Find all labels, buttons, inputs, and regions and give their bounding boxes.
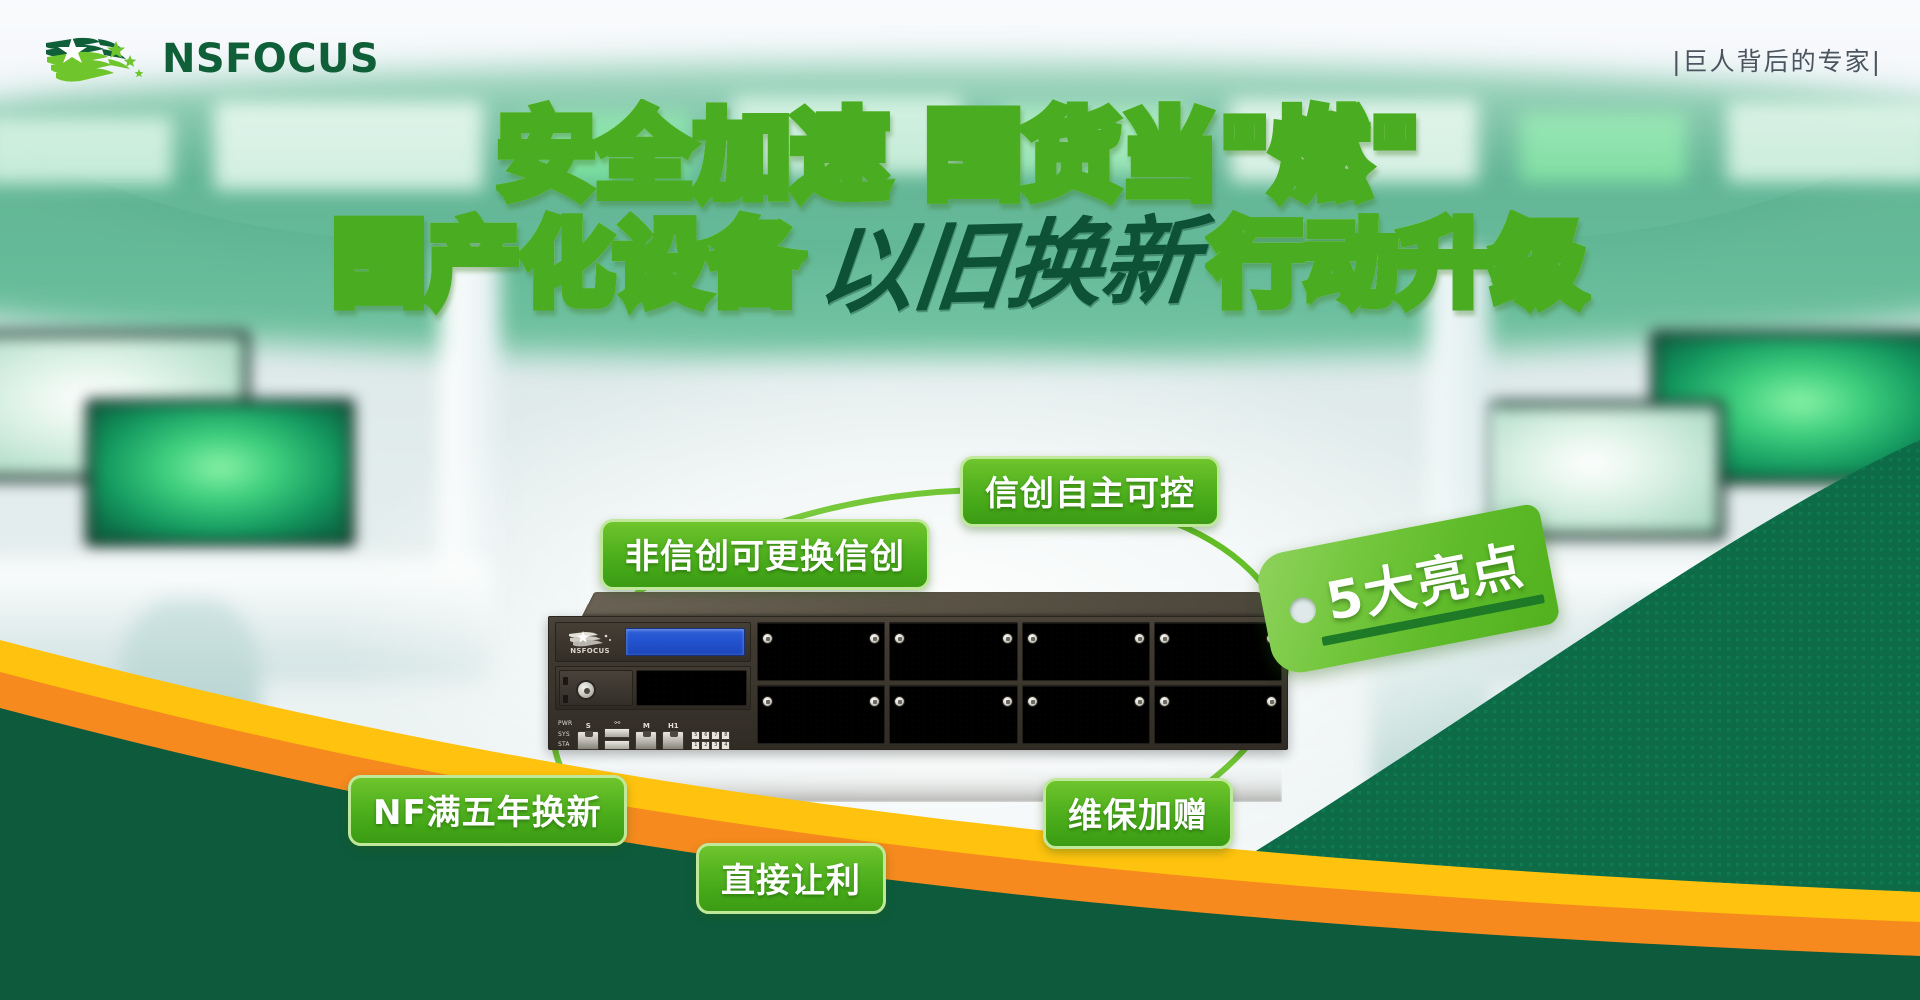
appliance-module-bay-row <box>555 666 751 710</box>
headline-block: 安全加速 国货当"燃" 国产化设备 以旧换新 行动升级 <box>0 108 1920 311</box>
port-mgmt-label: M <box>635 722 657 730</box>
drive-bay[interactable] <box>1022 685 1150 744</box>
appliance-module-latch[interactable] <box>559 670 633 706</box>
drive-bay[interactable] <box>889 685 1017 744</box>
drive-bay[interactable] <box>1154 622 1282 681</box>
badge-nonxc-to-xc[interactable]: 非信创可更换信创 <box>600 519 930 590</box>
promo-banner: NSFOCUS |巨人背后的专家| 安全加速 国货当"燃" 国产化设备 以旧换新… <box>0 0 1920 1000</box>
headline-line-2: 国产化设备 以旧换新 行动升级 <box>0 219 1920 311</box>
appliance-module-vent <box>636 670 747 706</box>
dip-7[interactable]: 7 <box>711 731 720 740</box>
appliance-control-section: NSFOCUS PWR SYS STA <box>549 617 755 749</box>
led-sta: STA <box>558 740 572 750</box>
port-ha-jack[interactable] <box>662 731 684 750</box>
dip-6[interactable]: 6 <box>701 731 710 740</box>
headline-line-1: 安全加速 国货当"燃" <box>0 108 1920 205</box>
port-serial-label: S <box>577 722 599 730</box>
appliance-io-row: PWR SYS STA S ⚯ <box>555 714 751 750</box>
usb-icon: ⚯ <box>604 719 630 727</box>
badge-xinchuang-autonomy[interactable]: 信创自主可控 <box>960 456 1220 527</box>
usb-port-top[interactable] <box>604 728 630 738</box>
port-ha: H1 <box>662 722 684 750</box>
usb-port-stack <box>604 728 630 750</box>
badge-direct-discount[interactable]: 直接让利 <box>696 843 886 914</box>
port-mgmt: M <box>635 722 657 750</box>
dip-1[interactable]: 1 <box>691 741 700 750</box>
dip-8[interactable]: 8 <box>721 731 730 740</box>
port-mgmt-jack[interactable] <box>635 731 657 750</box>
appliance-dip-switches: 5 6 7 8 1 2 3 4 <box>691 731 730 750</box>
port-serial-jack[interactable] <box>577 731 599 750</box>
appliance-front-panel: NSFOCUS PWR SYS STA <box>548 616 1288 750</box>
led-sys: SYS <box>558 730 572 740</box>
drive-bay[interactable] <box>1154 685 1282 744</box>
appliance-brand: NSFOCUS <box>561 630 619 655</box>
brand-tagline: |巨人背后的专家| <box>1672 42 1882 78</box>
appliance-logo-icon <box>567 630 613 647</box>
headline-line-2-suffix: 行动升级 <box>1211 219 1587 311</box>
headline-line-2-brush: 以旧换新 <box>804 215 1210 317</box>
appliance-brand-name: NSFOCUS <box>561 647 619 655</box>
dip-4[interactable]: 4 <box>721 741 730 750</box>
nsfocus-logo: NSFOCUS <box>42 33 379 85</box>
logo-wordmark: NSFOCUS <box>162 36 379 82</box>
port-ha-label: H1 <box>662 722 684 730</box>
appliance-drive-bays <box>755 617 1287 749</box>
led-pwr: PWR <box>558 719 572 729</box>
dip-3[interactable]: 3 <box>711 741 720 750</box>
dip-5[interactable]: 5 <box>691 731 700 740</box>
latch-knob-icon[interactable] <box>576 680 596 700</box>
headline-line-1-text: 安全加速 国货当"燃" <box>498 100 1421 212</box>
drive-bay[interactable] <box>757 622 885 681</box>
usb-port-bottom[interactable] <box>604 740 630 750</box>
drive-bay[interactable] <box>757 685 885 744</box>
badge-maintenance-bonus[interactable]: 维保加赠 <box>1043 778 1233 849</box>
headline-line-2-prefix: 国产化设备 <box>333 219 803 311</box>
port-serial: S <box>577 722 599 750</box>
appliance-top-panel <box>582 592 1274 616</box>
nsfocus-appliance: NSFOCUS PWR SYS STA <box>548 580 1288 802</box>
badge-nf-five-year-renewal[interactable]: NF满五年换新 <box>348 775 627 846</box>
drive-bay[interactable] <box>1022 622 1150 681</box>
nsfocus-flag-star-logo-icon <box>42 33 148 85</box>
appliance-status-leds: PWR SYS STA <box>558 719 572 750</box>
port-usb: ⚯ <box>604 719 630 750</box>
dip-2[interactable]: 2 <box>701 741 710 750</box>
appliance-lcd-display <box>625 628 745 656</box>
appliance-brand-lcd-row: NSFOCUS <box>555 622 751 662</box>
drive-bay[interactable] <box>889 622 1017 681</box>
